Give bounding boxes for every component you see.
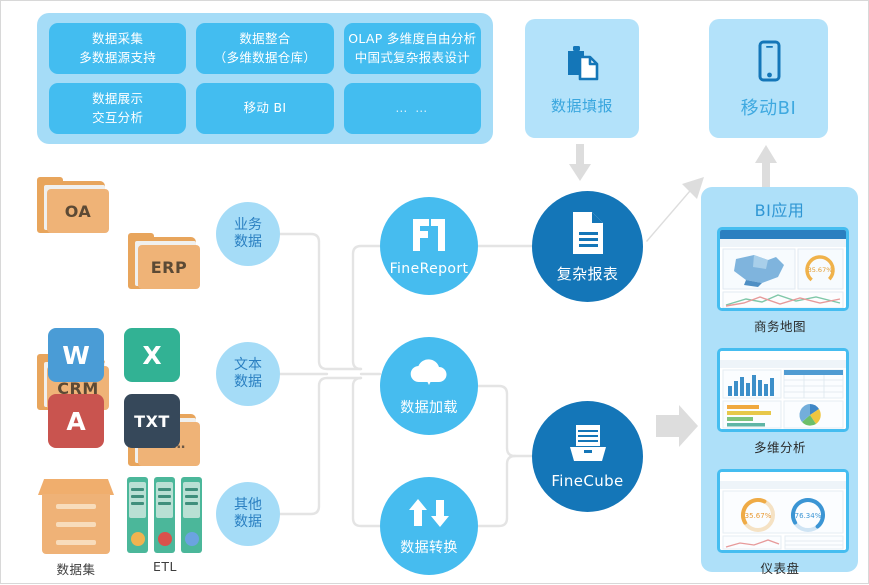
capability-chip[interactable]: 移动 BI [196,83,333,134]
clipboard-document-icon [560,41,604,89]
card-mobile-bi[interactable]: 移动BI [709,19,828,138]
file-type-access[interactable]: A [48,394,104,448]
card-data-entry[interactable]: 数据填报 [525,19,639,138]
binder-line [158,502,171,505]
category-line1: 文本 [234,357,262,373]
bi-thumbnail-caption: 仪表盘 [717,558,843,577]
binder-line [131,502,144,505]
finereport-logo-icon [409,216,449,258]
source-folder-erp[interactable]: ERP [128,233,200,289]
binder-dot [131,532,145,546]
dataset-cabinet-icon[interactable] [38,479,114,554]
node-finecube[interactable]: FineCube [532,401,643,512]
bi-thumbnail-caption: 商务地图 [717,316,843,335]
binder-line [131,495,144,498]
cabinet-drawer [56,522,96,527]
bi-thumbnail-caption: 多维分析 [717,437,843,456]
chip-line1: … … [395,100,429,117]
chip-line1: OLAP 多维度自由分析 [348,31,476,46]
cloud-download-icon [407,356,451,394]
binder-line [185,495,198,498]
file-type-excel[interactable]: X [124,328,180,382]
node-data-load[interactable]: 数据加载 [380,337,478,435]
dataset-label: 数据集 [38,559,114,578]
folder-label: OA [47,189,109,233]
node-complex-report[interactable]: 复杂报表 [532,191,643,302]
file-type-txt[interactable]: TXT [124,394,180,448]
svg-text:76.34%: 76.34% [795,512,822,520]
node-finereport[interactable]: FineReport [380,197,478,295]
bi-panel-title: BI应用 [701,197,858,221]
thumb-titlebar [720,230,846,239]
chip-line2: 交互分析 [92,110,143,125]
capability-chip[interactable]: 数据采集 多数据源支持 [49,23,186,74]
binder-dot [158,532,172,546]
chip-line2: （多维数据仓库） [214,50,316,65]
category-line1: 业务 [234,217,262,233]
chip-line1: 数据采集 [92,31,143,46]
category-line1: 其他 [234,497,262,513]
cube-tray-icon [566,423,610,469]
binder-line [185,488,198,491]
capability-chip[interactable]: 数据整合 （多维数据仓库） [196,23,333,74]
cabinet-top [38,479,114,495]
category-business-data[interactable]: 业务 数据 [216,202,280,266]
diagram-canvas: 数据采集 多数据源支持 数据整合 （多维数据仓库） OLAP 多维度自由分析 中… [1,1,868,583]
category-line2: 数据 [234,374,262,390]
document-lines-icon [569,210,607,260]
capability-chip[interactable]: OLAP 多维度自由分析 中国式复杂报表设计 [344,23,481,74]
mobile-phone-icon [748,38,790,88]
node-label: 数据转换 [400,537,458,557]
svg-text:35.67%: 35.67% [745,512,772,520]
bi-application-panel: BI应用 35.67% 商 [701,187,858,572]
node-label: FineReport [390,261,469,277]
bi-thumbnail-gauge[interactable]: 35.67% 76.34% [717,469,849,553]
binder-line [131,488,144,491]
capability-panel: 数据采集 多数据源支持 数据整合 （多维数据仓库） OLAP 多维度自由分析 中… [37,13,493,144]
transform-arrows-icon [409,496,449,534]
file-type-word[interactable]: W [48,328,104,382]
bi-thumbnail-map[interactable]: 35.67% [717,227,849,311]
bi-thumbnail-item[interactable]: 35.67% 76.34% 仪表盘 [717,469,843,577]
binder-line [158,495,171,498]
etl-label: ETL [127,559,203,574]
category-other-data[interactable]: 其他 数据 [216,482,280,546]
binder [127,477,148,553]
chip-line1: 数据展示 [92,91,143,106]
category-line2: 数据 [234,514,262,530]
binder-dot [185,532,199,546]
cabinet-body [42,494,110,554]
card-label: 数据填报 [551,95,613,116]
node-data-transform[interactable]: 数据转换 [380,477,478,575]
capability-chip-more[interactable]: … … [344,83,481,134]
cabinet-drawer [56,504,96,509]
folder-label: ERP [138,245,200,289]
bi-thumbnail-analysis[interactable] [717,348,849,432]
node-label: 数据加载 [400,397,458,417]
category-text-data[interactable]: 文本 数据 [216,342,280,406]
cabinet-drawer [56,540,96,545]
category-line2: 数据 [234,234,262,250]
binder-line [185,502,198,505]
source-folder-oa[interactable]: OA [37,177,109,233]
chip-line1: 移动 BI [244,99,287,117]
etl-binders-icon[interactable] [127,477,203,555]
chip-line2: 中国式复杂报表设计 [355,50,470,65]
bi-thumbnail-item[interactable]: 多维分析 [717,348,843,456]
svg-text:35.67%: 35.67% [808,266,833,274]
node-label: 复杂报表 [557,263,619,284]
card-label: 移动BI [741,94,797,120]
binder [181,477,202,553]
node-label: FineCube [551,472,623,490]
chip-line1: 数据整合 [239,31,290,46]
chip-line2: 多数据源支持 [79,50,156,65]
bi-thumbnail-item[interactable]: 35.67% 商务地图 [717,227,843,335]
capability-chip[interactable]: 数据展示 交互分析 [49,83,186,134]
binder-line [158,488,171,491]
binder [154,477,175,553]
